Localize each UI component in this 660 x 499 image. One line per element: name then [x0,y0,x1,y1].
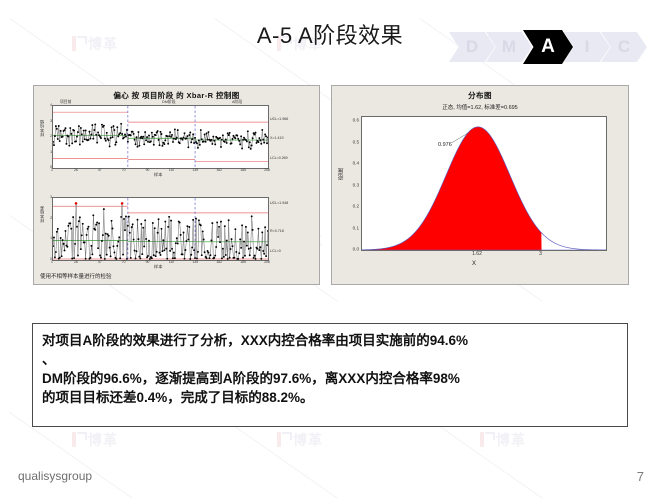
distribution-xlabel: X [472,261,476,267]
xbar-subchart [52,105,269,169]
distribution-yticks: 0.00.10.20.30.40.50.6 [342,116,360,249]
xtick-label: 162 [216,168,222,172]
xtick-label: 26 [74,168,78,172]
ytick-label: 0 [50,257,52,261]
summary-line-2: 、 [42,350,618,369]
xtick-label: 90 [146,260,150,264]
summary-line-3: DM阶段的96.6%，逐渐提高到A阶段的97.6%，离XXX内控合格率98% [42,369,618,388]
xtick-label: 162 [216,260,222,264]
xtick-label: 110 [169,168,174,172]
r-xticks: 126477090110139162185208 [52,260,267,266]
ytick-label: 1 [50,236,52,240]
xtick-label: 70 [122,260,126,264]
summary-textbox[interactable]: 对项目A阶段的效果进行了分析，XXX内控合格率由项目实施前的94.6% 、 DM… [32,323,628,427]
xbar-xticks: 126477090110139162185208 [52,168,267,174]
ytick-label: 0 [50,165,52,169]
ytick-label: 1 [50,150,52,154]
xbar-r-control-chart-panel[interactable]: 偏心 按 项目阶段 的 Xbar-R 控制图 项目前 DM阶段 A阶段 样本均值… [33,85,320,285]
xbar-lcl-label: LCL=0.269 [270,156,288,160]
watermark-logo: 博革 [72,432,118,447]
xtick-label: 185 [240,260,246,264]
summary-line-1: 对项目A阶段的效果进行了分析，XXX内控合格率由项目实施前的94.6% [42,331,618,350]
xtick-label: 139 [192,260,198,264]
r-yticks: 3210 [44,197,52,259]
page-number: 7 [637,469,644,484]
xtick-label: 139 [192,168,198,172]
watermark-label: 博革 [496,433,526,447]
r-lcl-label: LCL=0 [270,249,281,253]
ytick-label: 3 [50,195,52,199]
distribution-xticks: 1.623 [361,251,605,259]
xbar-yticks: 43210 [44,105,52,167]
watermark-label: 博革 [88,433,118,447]
distribution-ytick-label: 0.4 [353,161,359,166]
xtick-label: 208 [264,168,270,172]
xtick-label: 70 [122,168,126,172]
xtick-label: 26 [74,260,78,264]
distribution-ytick-label: 0.6 [353,118,359,123]
distribution-plot-panel[interactable]: 分布图 正态, 均值=1.62, 标准差=0.695 密度 0.00.10.20… [331,85,629,285]
watermark-logo: 博革 [277,432,323,447]
r-ucl-label: UCL=1.948 [270,201,288,205]
footer-brand: qualisysgroup [18,469,92,483]
distribution-ytick-label: 0.2 [353,204,359,209]
distribution-xtick-label: 1.62 [472,251,482,257]
chart-footnote: 使用不相等样本量进行的检验 [40,272,112,280]
page-title: A-5 A阶段效果 [0,18,660,50]
distribution-curve [361,116,607,251]
ytick-label: 3 [50,119,52,123]
boge-logo-icon [480,432,493,447]
distribution-ytick-label: 0.3 [353,182,359,187]
boge-logo-icon [72,432,85,447]
xtick-label: 90 [146,168,150,172]
xtick-label: 208 [264,260,270,264]
boge-logo-icon [277,432,290,447]
summary-line-4: 的项目目标还差0.4%，完成了目标的88.2%。 [42,388,618,407]
xtick-label: 47 [98,260,102,264]
distribution-subtitle: 正态, 均值=1.62, 标准差=0.695 [332,103,628,111]
xbar-r-chart-title: 偏心 按 项目阶段 的 Xbar-R 控制图 [34,90,319,101]
distribution-xtick-label: 3 [539,251,542,257]
xtick-label: 110 [169,260,174,264]
xbar-center-label: X=1.419 [270,136,284,140]
watermark-label: 博革 [293,433,323,447]
distribution-title: 分布图 [332,90,628,101]
ytick-label: 2 [50,216,52,220]
xtick-label: 47 [98,168,102,172]
ytick-label: 4 [50,103,52,107]
shaded-area-label: 0.976 [438,142,452,148]
xtick-label: 185 [240,168,246,172]
distribution-ytick-label: 0.5 [353,139,359,144]
xbar-ucl-label: UCL=1.966 [270,117,288,121]
slide-root: 博革 博革 博革 博革 博革 博革 博革 博革 博革 [0,0,660,495]
r-subchart [52,197,269,261]
r-center-label: R=0.718 [270,229,284,233]
distribution-ytick-label: 0.1 [353,225,359,230]
watermark-logo: 博革 [480,432,526,447]
ytick-label: 2 [50,134,52,138]
distribution-ytick-label: 0.0 [353,247,359,252]
